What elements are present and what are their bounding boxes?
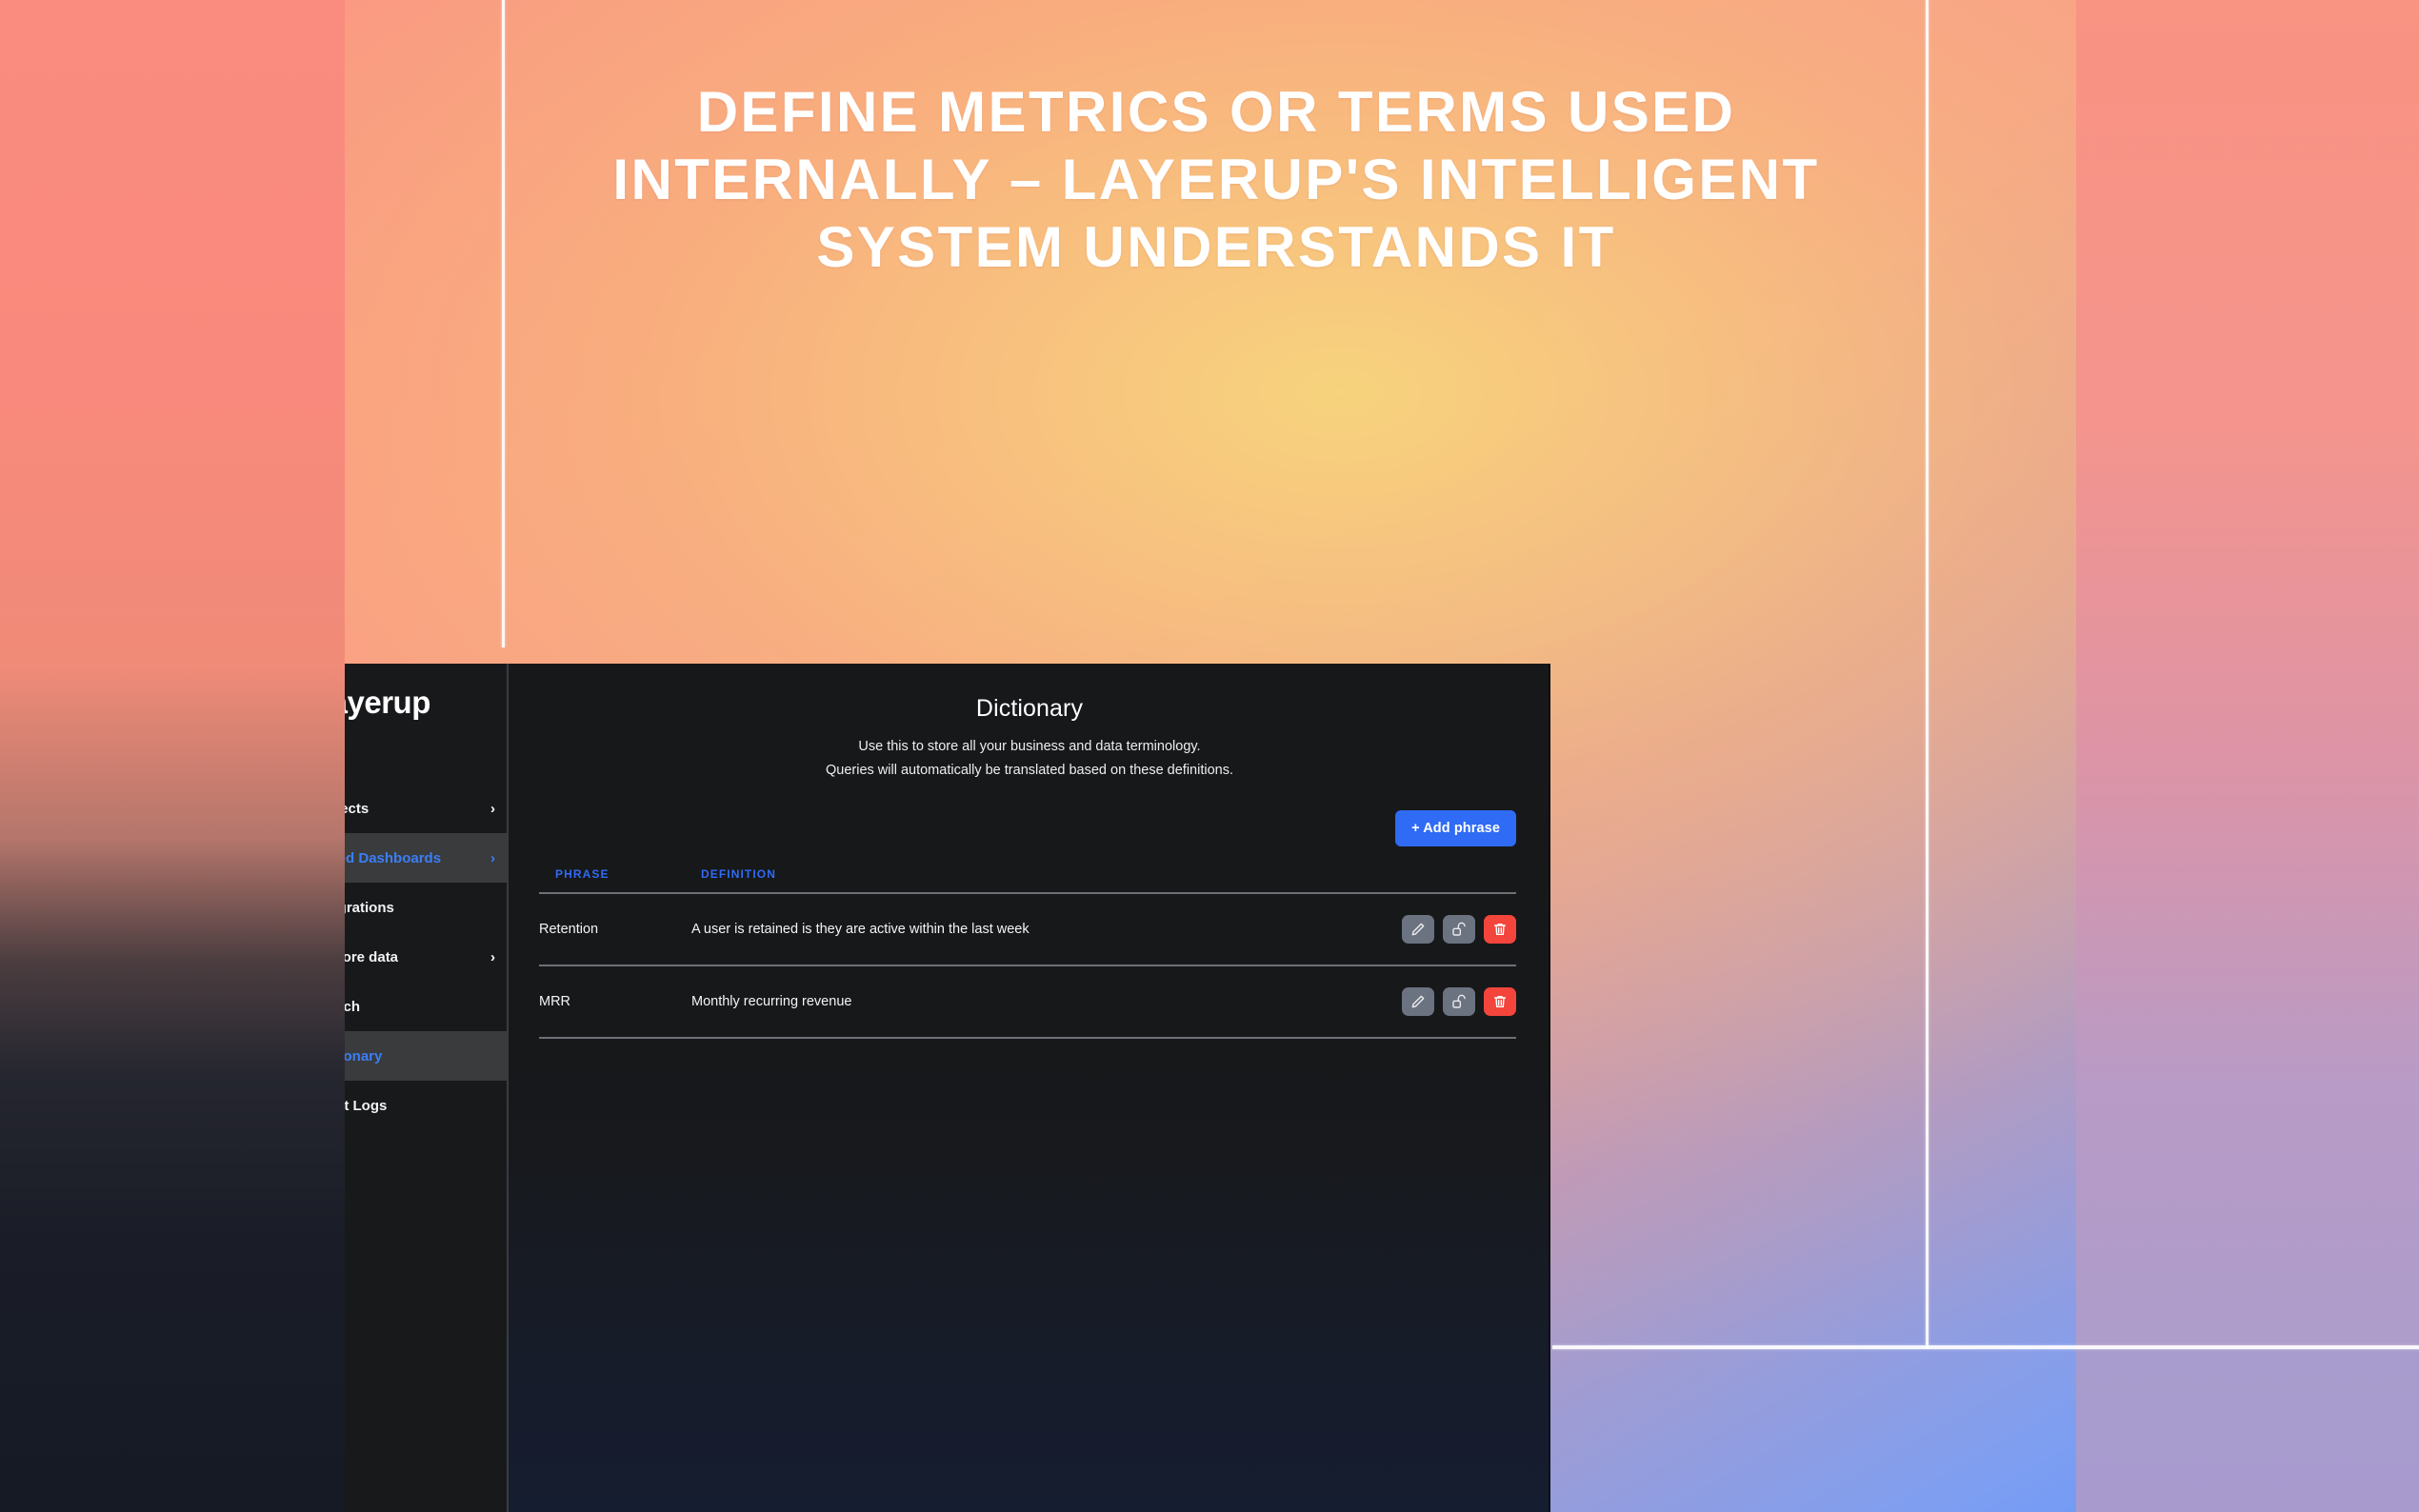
- unlock-button[interactable]: [1443, 987, 1475, 1016]
- main-content: Dictionary Use this to store all your bu…: [509, 664, 1550, 1512]
- row-action-group: [1402, 915, 1516, 944]
- cell-definition: A user is retained is they are active wi…: [691, 893, 1297, 965]
- hero-headline: Define metrics or terms used internally …: [507, 78, 1926, 281]
- background-right-column-bottom: [2076, 1347, 2419, 1512]
- edit-button[interactable]: [1402, 915, 1434, 944]
- column-header-actions: [1297, 867, 1516, 893]
- delete-button[interactable]: [1484, 915, 1516, 944]
- cell-phrase: MRR: [539, 965, 691, 1038]
- cell-actions: [1297, 965, 1516, 1038]
- cell-phrase: Retention: [539, 893, 691, 965]
- sidebar-item-label: Explore data: [345, 949, 398, 965]
- frame-rule-vertical-right: [1926, 0, 1929, 1348]
- sidebar-item-audit-logs[interactable]: Audit Logs: [345, 1081, 507, 1130]
- cell-definition: Monthly recurring revenue: [691, 965, 1297, 1038]
- sidebar-item-integrations[interactable]: Integrations: [345, 883, 507, 932]
- trash-icon: [1492, 922, 1508, 937]
- chevron-right-icon: ›: [490, 802, 495, 816]
- row-action-group: [1402, 987, 1516, 1016]
- add-phrase-button[interactable]: + Add phrase: [1395, 810, 1516, 846]
- table-header-row: PHRASE DEFINITION: [539, 867, 1516, 893]
- table-row: MRR Monthly recurring revenue: [539, 965, 1516, 1038]
- column-header-phrase[interactable]: PHRASE: [539, 867, 691, 893]
- cell-actions: [1297, 893, 1516, 965]
- table-body: Retention A user is retained is they are…: [539, 893, 1516, 1038]
- sidebar-item-explore-data[interactable]: Explore data ›: [345, 932, 507, 982]
- sidebar-item-search[interactable]: Search: [345, 982, 507, 1031]
- page-subtitle-line-1: Use this to store all your business and …: [509, 739, 1550, 754]
- background-right-column: [2076, 0, 2419, 1512]
- sidebar-item-label: Integrations: [345, 900, 394, 916]
- table-row: Retention A user is retained is they are…: [539, 893, 1516, 965]
- unlock-icon: [1451, 994, 1467, 1009]
- dictionary-header: Dictionary Use this to store all your bu…: [509, 664, 1550, 778]
- chevron-right-icon: ›: [490, 851, 495, 865]
- toolbar: + Add phrase: [509, 778, 1550, 846]
- edit-button[interactable]: [1402, 987, 1434, 1016]
- sidebar-item-label: Saved Dashboards: [345, 850, 441, 866]
- brand-logo[interactable]: Layerup: [345, 685, 430, 721]
- page-title: Dictionary: [509, 695, 1550, 723]
- delete-button[interactable]: [1484, 987, 1516, 1016]
- chevron-right-icon: ›: [490, 950, 495, 965]
- screenshot-root: Define metrics or terms used internally …: [0, 0, 2419, 1512]
- trash-icon: [1492, 994, 1508, 1009]
- pencil-icon: [1410, 922, 1426, 937]
- dictionary-table: PHRASE DEFINITION Retention A user is re…: [539, 867, 1516, 1039]
- unlock-icon: [1451, 922, 1467, 937]
- frame-rule-horizontal-bottom: [1552, 1345, 2419, 1349]
- sidebar-item-label: Search: [345, 999, 360, 1015]
- sidebar: Layerup Projects › Saved Dashboards › In…: [345, 664, 509, 1512]
- table-head: PHRASE DEFINITION: [539, 867, 1516, 893]
- app-window: Layerup Projects › Saved Dashboards › In…: [345, 664, 1550, 1512]
- frame-rule-vertical-left: [502, 0, 505, 647]
- sidebar-item-saved-dashboards[interactable]: Saved Dashboards ›: [345, 833, 507, 883]
- sidebar-item-dictionary[interactable]: Dictionary: [345, 1031, 507, 1081]
- background-left-strip: [0, 0, 345, 1512]
- unlock-button[interactable]: [1443, 915, 1475, 944]
- sidebar-nav: Projects › Saved Dashboards › Integratio…: [345, 784, 507, 1130]
- column-header-definition[interactable]: DEFINITION: [691, 867, 1297, 893]
- sidebar-item-label: Audit Logs: [345, 1098, 387, 1114]
- dictionary-table-wrapper: PHRASE DEFINITION Retention A user is re…: [509, 846, 1550, 1039]
- page-subtitle-line-2: Queries will automatically be translated…: [509, 763, 1550, 778]
- pencil-icon: [1410, 994, 1426, 1009]
- sidebar-item-projects[interactable]: Projects ›: [345, 784, 507, 833]
- sidebar-item-label: Projects: [345, 801, 369, 817]
- sidebar-item-label: Dictionary: [345, 1048, 382, 1064]
